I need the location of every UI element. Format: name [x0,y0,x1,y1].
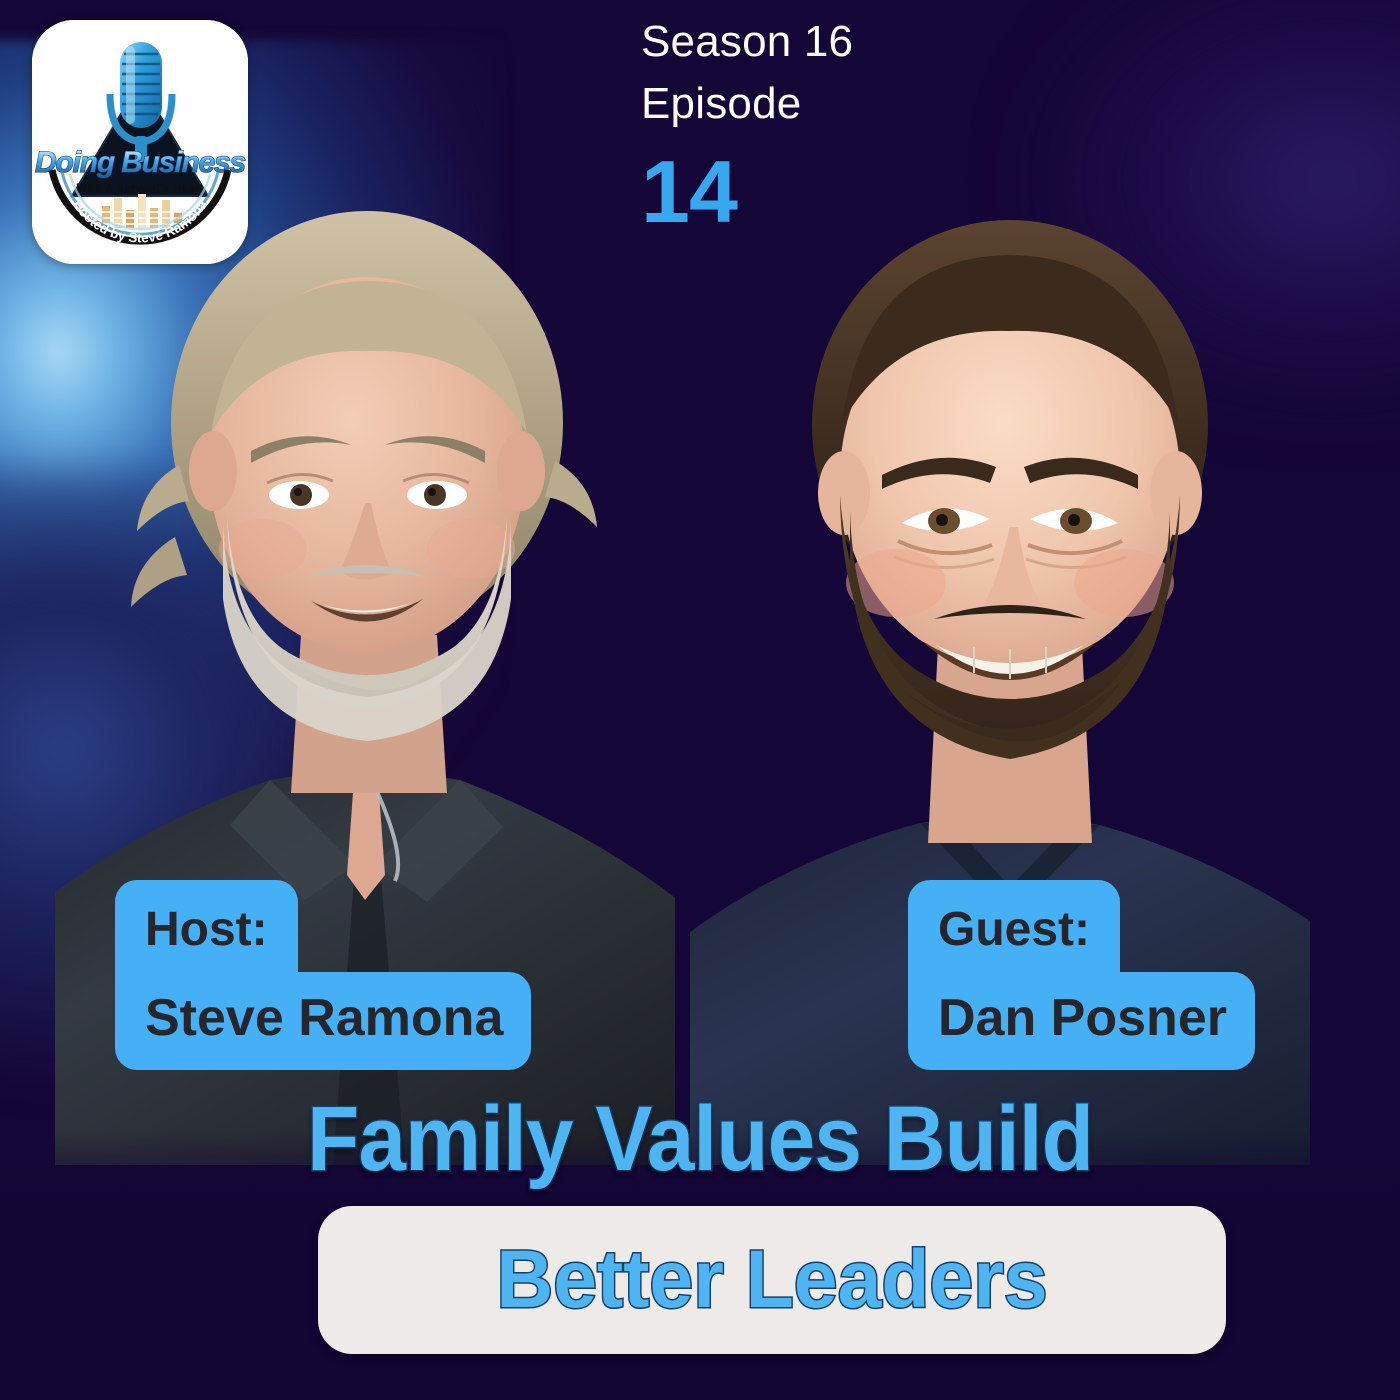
guest-name-chip-group: Guest: Dan Posner [908,880,1255,1070]
host-role-label: Host: [115,880,298,976]
host-name-chip-group: Host: Steve Ramona [115,880,531,1070]
podcast-logo-badge: Doing Business With A Servant's Heart [32,20,248,264]
episode-title-line-1: Family Values Build [49,1093,1351,1185]
svg-text:Doing Business: Doing Business [35,146,245,179]
guest-name-label: Dan Posner [908,972,1255,1070]
logo-wordmark: Doing Business [35,146,245,179]
episode-label: Episode [641,82,801,126]
host-name-label: Steve Ramona [115,972,531,1070]
guest-role-label: Guest: [908,880,1120,976]
episode-title-card: Better Leaders [318,1206,1226,1354]
episode-number: 14 [641,148,737,236]
season-label: Season 16 [641,20,853,64]
podcast-cover-art: Doing Business With A Servant's Heart [0,0,1400,1400]
logo-tagline: With A Servant's Heart [77,183,204,195]
episode-title-line-2: Better Leaders [336,1239,1208,1321]
